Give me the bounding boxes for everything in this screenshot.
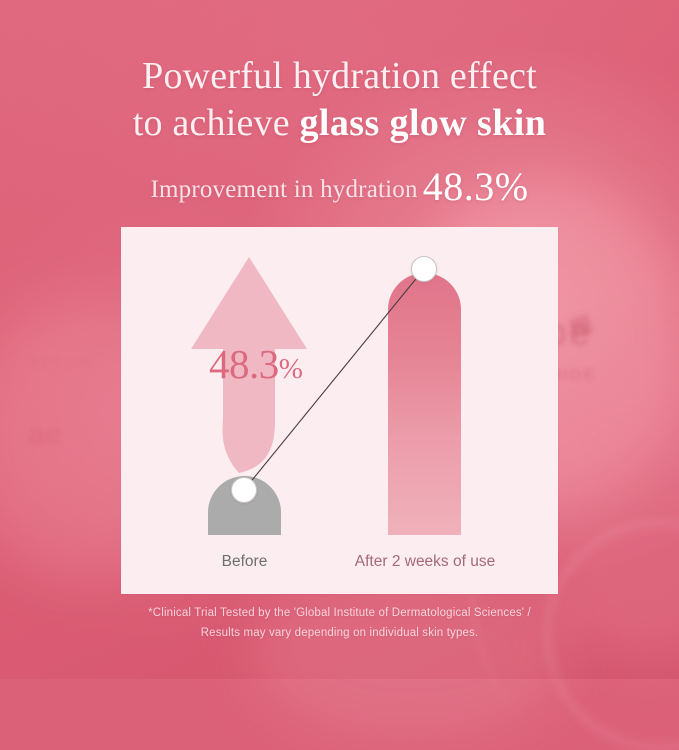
footnote-block: *Clinical Trial Tested by the 'Global In… <box>0 604 679 644</box>
subheadline-value: 48.3% <box>423 164 529 209</box>
headline-line-1: Powerful hydration effect <box>0 52 679 101</box>
chart-plot-area: 48.3% Before After 2 weeks of use <box>121 227 558 594</box>
headline-line-2-emphasis: glass glow skin <box>300 102 547 144</box>
background-product-text: ae <box>28 418 61 452</box>
background-product-text: SERUM <box>30 355 92 370</box>
footnote-line-2: Results may vary depending on individual… <box>0 624 679 644</box>
data-point-marker-before <box>231 477 257 503</box>
data-point-marker-after <box>411 256 437 282</box>
headline-line-2-prefix: to achieve <box>133 102 300 144</box>
chart-card: 48.3% Before After 2 weeks of use <box>121 227 558 594</box>
axis-label-before: Before <box>183 553 306 571</box>
improvement-callout-symbol: % <box>279 353 303 385</box>
bar-after-2-weeks <box>388 273 461 535</box>
improvement-callout: 48.3% <box>209 340 302 388</box>
axis-label-after: After 2 weeks of use <box>319 553 531 571</box>
background-decoration-square <box>568 313 593 338</box>
headline-line-2: to achieve glass glow skin <box>0 99 679 148</box>
upward-trend-arrow-group: 48.3% <box>173 245 318 475</box>
headline-block: Powerful hydration effect to achieve gla… <box>0 52 679 210</box>
subheadline: Improvement in hydration48.3% <box>0 163 679 210</box>
footnote-line-1: *Clinical Trial Tested by the 'Global In… <box>0 604 679 624</box>
subheadline-label: Improvement in hydration <box>150 176 417 203</box>
improvement-callout-value: 48.3 <box>209 341 279 387</box>
